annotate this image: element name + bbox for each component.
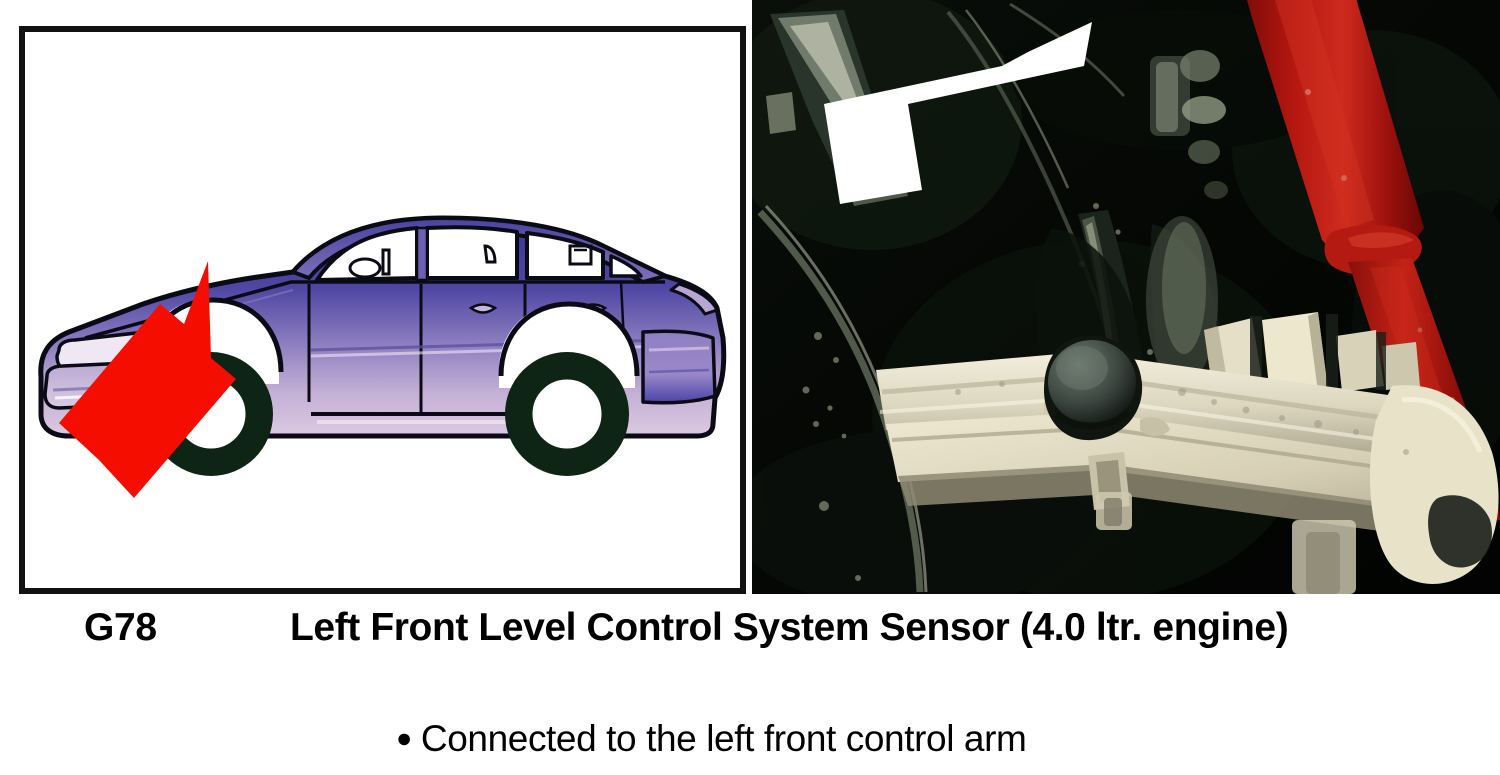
- figure-caption: G78 Left Front Level Control System Sens…: [0, 604, 1500, 660]
- caption-component-name: Left Front Level Control System Sensor (…: [290, 604, 1288, 652]
- figure-root: G78 Left Front Level Control System Sens…: [0, 0, 1500, 775]
- figure-note-text: Connected to the left front control arm: [421, 718, 1027, 759]
- bullet-icon: ●: [396, 716, 412, 760]
- underbody-photo: [752, 0, 1500, 594]
- photo-panel: [752, 0, 1500, 594]
- rear-wheel: [505, 352, 629, 476]
- figure-note: ●Connected to the left front control arm: [396, 716, 1026, 764]
- illustration-panel: [19, 26, 746, 594]
- caption-component-code: G78: [84, 604, 157, 652]
- vehicle-side-view-illustration: [25, 32, 740, 588]
